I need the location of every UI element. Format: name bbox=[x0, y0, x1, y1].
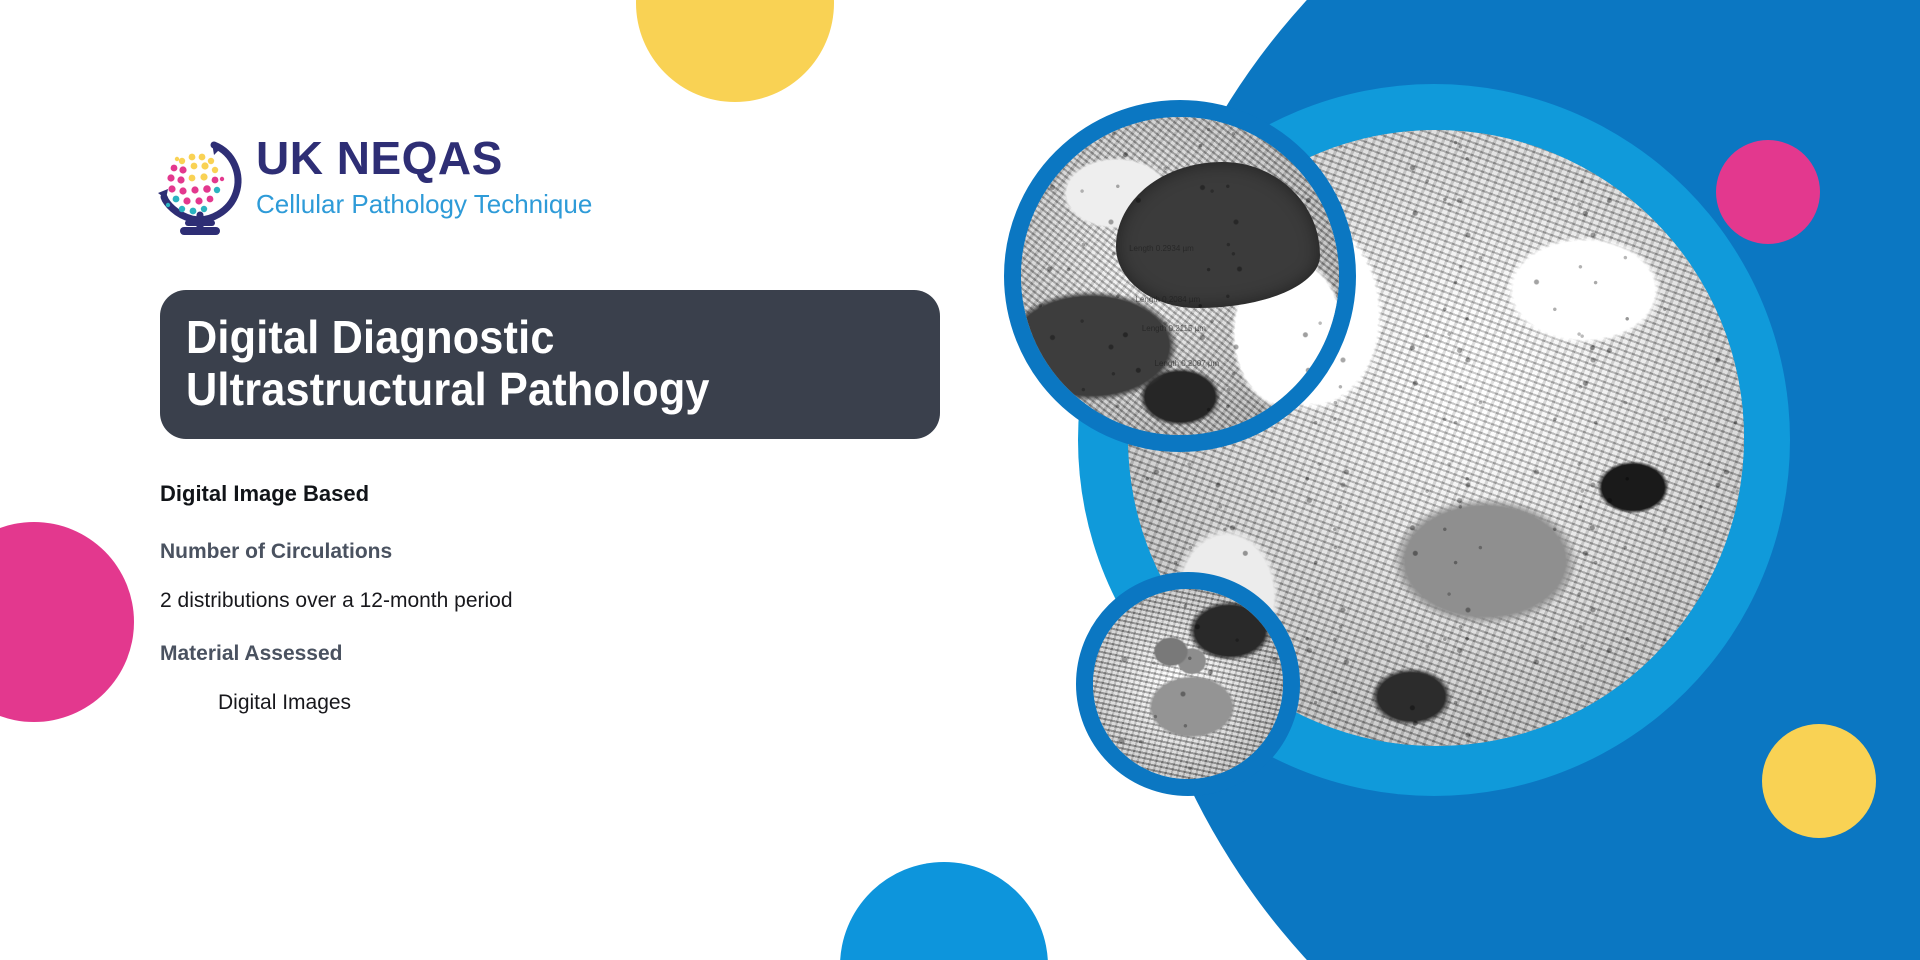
micrograph-annotation: Length 0.2007 µm bbox=[1155, 359, 1220, 368]
micrograph-annotation: Length 0.2934 µm bbox=[1129, 244, 1194, 253]
uk-neqas-logo: UK NEQAS Cellular Pathology Technique bbox=[152, 133, 622, 243]
title-line-2: Ultrastructural Pathology bbox=[186, 364, 870, 416]
material-assessed-heading: Material Assessed bbox=[160, 642, 800, 665]
micrograph-annotation: Length 0.2115 µm bbox=[1142, 324, 1206, 333]
decor-dot-pink-left bbox=[0, 522, 134, 722]
electron-micrograph-inset-top: Length 0.2934 µm Length 0.2084 µm Length… bbox=[1004, 100, 1356, 452]
material-assessed-item: Digital Images bbox=[218, 691, 800, 714]
poster-canvas: Length 0.2934 µm Length 0.2084 µm Length… bbox=[0, 0, 1920, 960]
decor-dot-yellow-top bbox=[636, 0, 834, 102]
title-line-1: Digital Diagnostic bbox=[186, 312, 870, 364]
logo-wordmark: UK NEQAS Cellular Pathology Technique bbox=[256, 135, 592, 217]
decor-dot-yellow-right bbox=[1762, 724, 1876, 838]
micrograph-speckle bbox=[1093, 589, 1283, 779]
micrograph-speckle bbox=[1021, 117, 1339, 435]
circulations-heading: Number of Circulations bbox=[160, 540, 800, 563]
logo-scheme-name: Cellular Pathology Technique bbox=[256, 191, 592, 217]
format-label: Digital Image Based bbox=[160, 482, 800, 506]
scheme-details: Digital Image Based Number of Circulatio… bbox=[160, 482, 800, 715]
circulations-value: 2 distributions over a 12-month period bbox=[160, 589, 800, 612]
globe-dots-icon bbox=[152, 135, 248, 241]
decor-dot-blue-bottom bbox=[840, 862, 1048, 960]
micrograph-annotation: Length 0.2084 µm bbox=[1135, 295, 1200, 304]
decor-dot-pink-right bbox=[1716, 140, 1820, 244]
title-banner: Digital Diagnostic Ultrastructural Patho… bbox=[160, 290, 940, 439]
electron-micrograph-inset-bottom bbox=[1076, 572, 1300, 796]
logo-title: UK NEQAS bbox=[256, 135, 592, 181]
